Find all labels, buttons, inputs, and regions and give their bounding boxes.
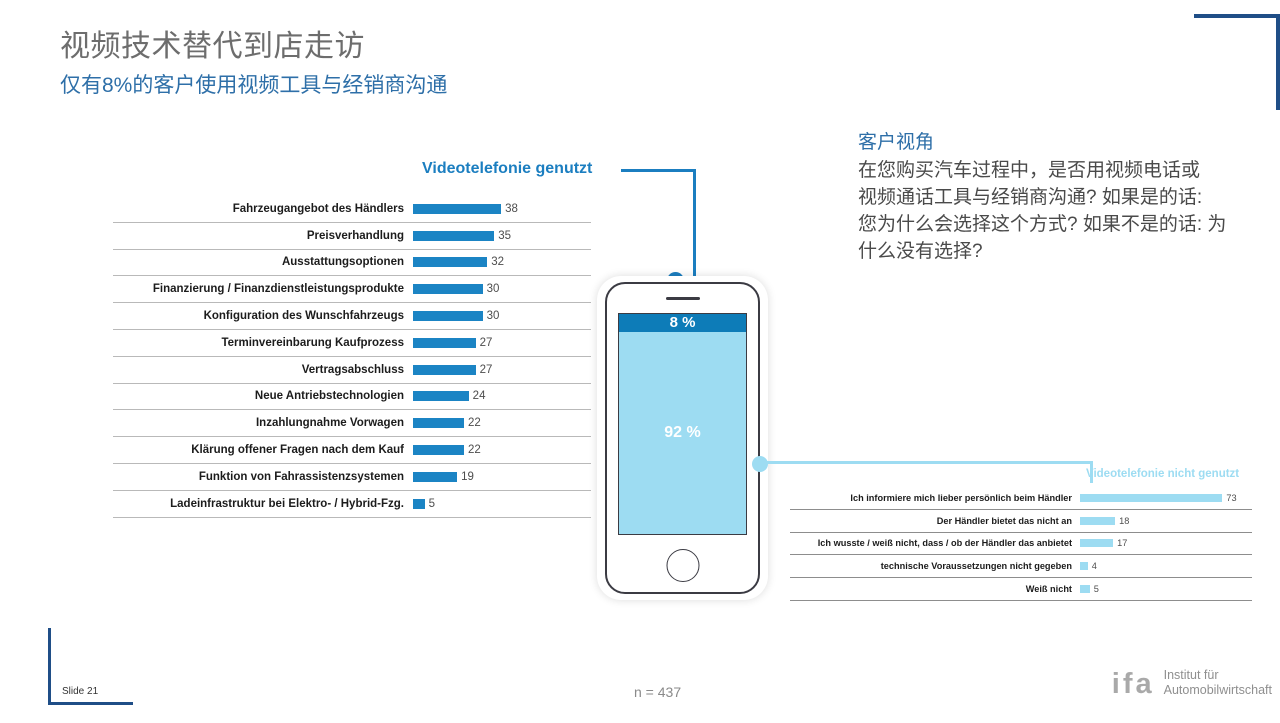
- bar-label: Funktion von Fahrassistenzsystemen: [113, 471, 413, 483]
- bar: [413, 472, 457, 482]
- chart-row: Der Händler bietet das nicht an18: [790, 510, 1252, 533]
- bar-track: 18: [1080, 516, 1252, 526]
- phone-frame: 8 % 92 %: [605, 282, 760, 594]
- question-line-1: 在您购买汽车过程中，是否用视频电话或: [858, 158, 1278, 185]
- customer-perspective-title: 客户视角: [858, 130, 1278, 156]
- bar-track: 22: [413, 444, 591, 456]
- bar-track: 4: [1080, 561, 1252, 571]
- bar-label: Ich informiere mich lieber persönlich be…: [790, 493, 1080, 503]
- bar-value: 5: [429, 498, 435, 510]
- chart-row: Terminvereinbarung Kaufprozess27: [113, 330, 591, 357]
- bar: [1080, 585, 1090, 593]
- customer-perspective-text: 在您购买汽车过程中，是否用视频电话或 视频通话工具与经销商沟通? 如果是的话: …: [858, 158, 1278, 266]
- slide-number: Slide 21: [62, 686, 98, 697]
- bar-label: Neue Antriebstechnologien: [113, 390, 413, 402]
- chart-row: Ausstattungsoptionen32: [113, 250, 591, 277]
- chart-row: Klärung offener Fragen nach dem Kauf22: [113, 437, 591, 464]
- ifa-logo-mark: ifa: [1112, 671, 1155, 698]
- bar-value: 17: [1117, 538, 1127, 548]
- bar-track: 17: [1080, 538, 1252, 548]
- chart-left-title: Videotelefonie genutzt: [422, 160, 592, 178]
- bar: [413, 231, 494, 241]
- bar-track: 73: [1080, 493, 1252, 503]
- question-line-3: 您为什么会选择这个方式? 如果不是的话: 为: [858, 212, 1278, 239]
- pie-segment-used: 8 %: [619, 314, 746, 332]
- bar-label: Der Händler bietet das nicht an: [790, 516, 1080, 526]
- chart-row: Neue Antriebstechnologien24: [113, 384, 591, 411]
- bar-label: Finanzierung / Finanzdienstleistungsprod…: [113, 283, 413, 295]
- page-subtitle: 仅有8%的客户使用视频工具与经销商沟通: [60, 72, 447, 99]
- bar-label: technische Voraussetzungen nicht gegeben: [790, 561, 1080, 571]
- bar-label: Ausstattungsoptionen: [113, 256, 413, 268]
- bar-value: 5: [1094, 584, 1099, 594]
- bar-label: Inzahlungnahme Vorwagen: [113, 417, 413, 429]
- phone-screen-chart: 8 % 92 %: [618, 313, 747, 535]
- sample-size-label: n = 437: [634, 684, 681, 700]
- chart-videotelefonie-nicht-genutzt: Videotelefonie nicht genutzt Ich informi…: [790, 487, 1252, 601]
- bar-track: 30: [413, 310, 591, 322]
- bar-label: Vertragsabschluss: [113, 364, 413, 376]
- bar-label: Konfiguration des Wunschfahrzeugs: [113, 310, 413, 322]
- pie-segment-not-used: 92 %: [619, 332, 746, 534]
- chart-row: Funktion von Fahrassistenzsystemen19: [113, 464, 591, 491]
- bar-value: 38: [505, 203, 518, 215]
- ifa-logo: ifa Institut für Automobilwirtschaft: [1112, 668, 1272, 698]
- bar-label: Preisverhandlung: [113, 230, 413, 242]
- connector-line-left-vertical: [693, 169, 696, 281]
- bar-value: 27: [480, 337, 493, 349]
- chart-row: Weiß nicht5: [790, 578, 1252, 601]
- bar: [413, 499, 425, 509]
- bar-value: 27: [480, 364, 493, 376]
- bar: [413, 257, 487, 267]
- bar-value: 30: [487, 283, 500, 295]
- bar: [1080, 517, 1115, 525]
- chart-left-rows: Fahrzeugangebot des Händlers38Preisverha…: [113, 196, 591, 518]
- corner-decoration-top-right: [1194, 14, 1280, 110]
- chart-row: Konfiguration des Wunschfahrzeugs30: [113, 303, 591, 330]
- chart-row: Finanzierung / Finanzdienstleistungsprod…: [113, 276, 591, 303]
- slide-header: 视频技术替代到店走访 仅有8%的客户使用视频工具与经销商沟通: [60, 28, 447, 99]
- bar-label: Weiß nicht: [790, 584, 1080, 594]
- customer-perspective-box: 客户视角 在您购买汽车过程中，是否用视频电话或 视频通话工具与经销商沟通? 如果…: [858, 130, 1278, 266]
- bar-value: 24: [473, 390, 486, 402]
- bar: [413, 418, 464, 428]
- bar-track: 19: [413, 471, 591, 483]
- bar-label: Klärung offener Fragen nach dem Kauf: [113, 444, 413, 456]
- chart-row: Ich wusste / weiß nicht, dass / ob der H…: [790, 533, 1252, 556]
- bar: [1080, 539, 1113, 547]
- chart-row: Inzahlungnahme Vorwagen22: [113, 410, 591, 437]
- bar-value: 35: [498, 230, 511, 242]
- chart-right-rows: Ich informiere mich lieber persönlich be…: [790, 487, 1252, 601]
- connector-dot-phone-right: [752, 456, 768, 472]
- bar-track: 30: [413, 283, 591, 295]
- bar-value: 30: [487, 310, 500, 322]
- bar-track: 5: [413, 498, 591, 510]
- chart-row: Ladeinfrastruktur bei Elektro- / Hybrid-…: [113, 491, 591, 518]
- page-title: 视频技术替代到店走访: [60, 28, 447, 66]
- chart-row: Fahrzeugangebot des Händlers38: [113, 196, 591, 223]
- chart-right-title: Videotelefonie nicht genutzt: [1086, 468, 1239, 480]
- chart-row: Preisverhandlung35: [113, 223, 591, 250]
- connector-line-right-horizontal: [766, 461, 1093, 464]
- chart-row: Ich informiere mich lieber persönlich be…: [790, 487, 1252, 510]
- bar-track: 24: [413, 390, 591, 402]
- bar-value: 22: [468, 444, 481, 456]
- bar: [1080, 494, 1222, 502]
- chart-row: Vertragsabschluss27: [113, 357, 591, 384]
- bar-label: Fahrzeugangebot des Händlers: [113, 203, 413, 215]
- bar-track: 5: [1080, 584, 1252, 594]
- question-line-4: 什么没有选择?: [858, 239, 1278, 266]
- bar: [1080, 562, 1088, 570]
- chart-videotelefonie-genutzt: Videotelefonie genutzt Fahrzeugangebot d…: [113, 196, 591, 518]
- bar-value: 22: [468, 417, 481, 429]
- ifa-logo-text: Institut für Automobilwirtschaft: [1164, 668, 1272, 698]
- bar-track: 32: [413, 256, 591, 268]
- bar-track: 22: [413, 417, 591, 429]
- bar-label: Ladeinfrastruktur bei Elektro- / Hybrid-…: [113, 498, 413, 510]
- bar-value: 19: [461, 471, 474, 483]
- phone-speaker-icon: [666, 297, 700, 300]
- bar-value: 73: [1226, 493, 1236, 503]
- ifa-logo-line-2: Automobilwirtschaft: [1164, 683, 1272, 698]
- slide-canvas: 视频技术替代到店走访 仅有8%的客户使用视频工具与经销商沟通 Videotele…: [0, 0, 1280, 723]
- bar-track: 38: [413, 203, 591, 215]
- connector-line-left-horizontal: [621, 169, 696, 172]
- phone-home-button-icon: [666, 549, 699, 582]
- bar: [413, 338, 476, 348]
- bar-track: 27: [413, 364, 591, 376]
- bar-track: 27: [413, 337, 591, 349]
- bar: [413, 445, 464, 455]
- bar-value: 4: [1092, 561, 1097, 571]
- chart-row: technische Voraussetzungen nicht gegeben…: [790, 555, 1252, 578]
- bar: [413, 365, 476, 375]
- question-line-2: 视频通话工具与经销商沟通? 如果是的话:: [858, 185, 1278, 212]
- bar-value: 18: [1119, 516, 1129, 526]
- phone-mockup: 8 % 92 %: [597, 276, 768, 600]
- bar: [413, 391, 469, 401]
- bar: [413, 284, 483, 294]
- bar-track: 35: [413, 230, 591, 242]
- bar-value: 32: [491, 256, 504, 268]
- ifa-logo-line-1: Institut für: [1164, 668, 1272, 683]
- bar-label: Ich wusste / weiß nicht, dass / ob der H…: [790, 538, 1080, 548]
- bar-label: Terminvereinbarung Kaufprozess: [113, 337, 413, 349]
- bar: [413, 204, 501, 214]
- bar: [413, 311, 483, 321]
